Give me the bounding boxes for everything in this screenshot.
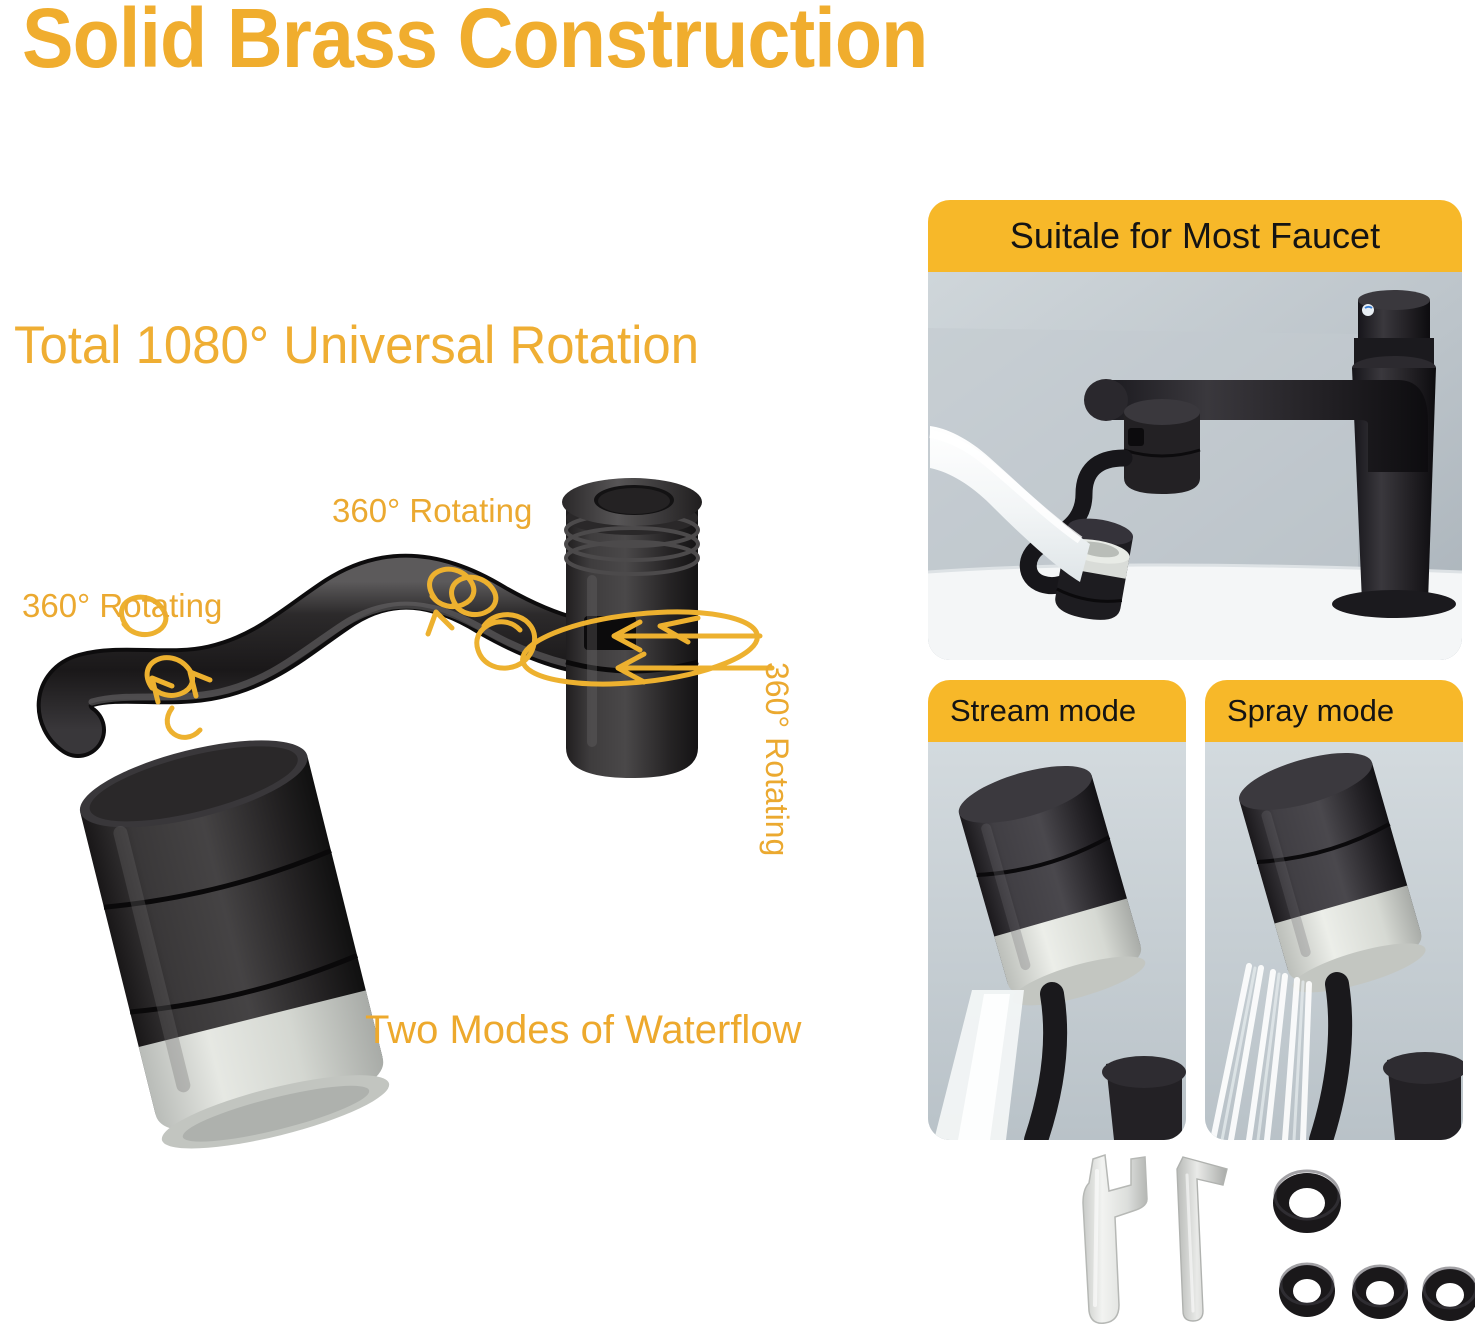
card-stream-mode: Stream mode [928, 680, 1186, 1140]
annotation-rotate-right: 360° Rotating [758, 662, 795, 856]
card-suitable-for-most-faucet: Suitale for Most Faucet [928, 200, 1462, 660]
page-title: Solid Brass Construction [22, 0, 927, 82]
infographic-canvas: Solid Brass Construction Total 1080° Uni… [0, 0, 1483, 1332]
card-stream-photo [928, 742, 1186, 1140]
flat-spanner-wrench-icon [1083, 1155, 1147, 1323]
o-ring-small-icon [1422, 1268, 1475, 1321]
card-stream-label: Stream mode [928, 680, 1186, 742]
subtitle: Total 1080° Universal Rotation [14, 318, 699, 374]
o-ring-large-icon [1273, 1171, 1341, 1233]
annotation-rotate-top: 360° Rotating [332, 492, 532, 530]
o-ring-small-icon [1279, 1264, 1335, 1317]
card-spray-label: Spray mode [1205, 680, 1463, 742]
spray-head [72, 723, 395, 1164]
card-faucet-label: Suitale for Most Faucet [928, 200, 1462, 272]
card-spray-photo [1205, 742, 1463, 1140]
o-ring-small-icon [1352, 1266, 1408, 1319]
annotation-rotate-left: 360° Rotating [22, 587, 222, 625]
card-spray-mode: Spray mode [1205, 680, 1463, 1140]
accessories-group [1075, 1145, 1475, 1330]
card-faucet-photo [928, 272, 1462, 660]
annotation-two-modes: Two Modes of Waterflow [365, 1008, 801, 1053]
hex-key-icon [1177, 1157, 1227, 1321]
faucet-swivel-joint [1124, 399, 1200, 494]
